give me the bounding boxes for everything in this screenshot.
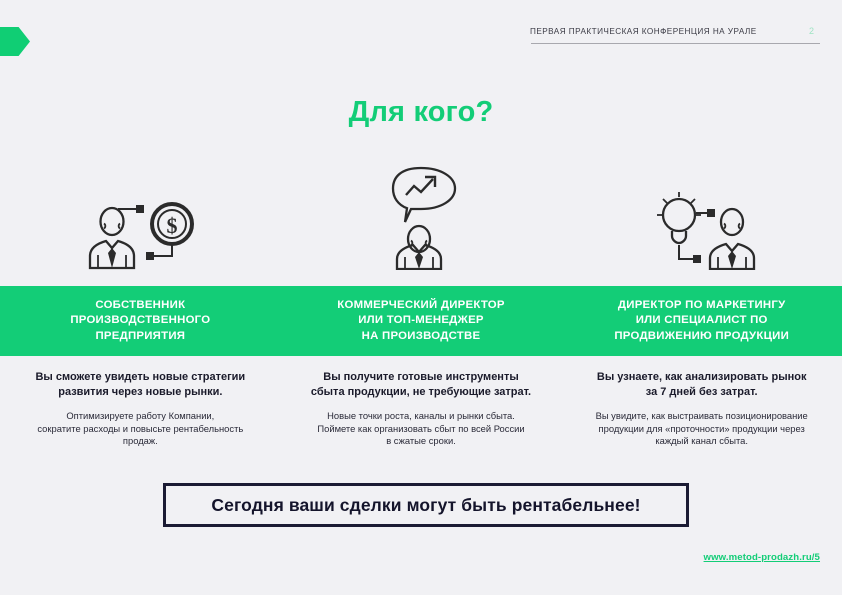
persona-banner-1-line-2: ПРОИЗВОДСТВЕННОГО [70, 313, 210, 329]
persona-text-3-subtext-line-2: продукции для «проточности» продукции че… [571, 423, 832, 436]
persona-text-1-subtext-line-1: Оптимизируете работу Компании, [10, 410, 271, 423]
persona-banner-3-line-2: ИЛИ СПЕЦИАЛИСТ ПО [614, 313, 789, 329]
persona-banner-3: ДИРЕКТОР ПО МАРКЕТИНГУ ИЛИ СПЕЦИАЛИСТ ПО… [561, 286, 842, 356]
page-title: Для кого? [0, 96, 842, 129]
cta-box: Сегодня ваши сделки могут быть рентабель… [163, 483, 689, 527]
persona-text-1-headline-line-2: развития через новые рынки. [10, 385, 271, 400]
persona-text-2-subtext: Новые точки роста, каналы и рынки сбыта.… [291, 410, 552, 448]
persona-icon-row: $ [0, 155, 842, 270]
lightbulb-with-businessman-icon [646, 188, 758, 270]
persona-banner-3-line-1: ДИРЕКТОР ПО МАРКЕТИНГУ [614, 298, 789, 314]
persona-banner-1-line-3: ПРЕДПРИЯТИЯ [70, 329, 210, 345]
persona-banner-2-line-2: ИЛИ ТОП-МЕНЕДЖЕР [337, 313, 504, 329]
header-right-group: ПЕРВАЯ ПРАКТИЧЕСКАЯ КОНФЕРЕНЦИЯ НА УРАЛЕ… [530, 26, 820, 37]
persona-text-2-headline: Вы получите готовые инструменты сбыта пр… [291, 370, 552, 399]
green-arrow-tab-icon [0, 27, 30, 56]
conference-title: ПЕРВАЯ ПРАКТИЧЕСКАЯ КОНФЕРЕНЦИЯ НА УРАЛЕ [530, 26, 757, 37]
persona-text-3-headline-line-2: за 7 дней без затрат. [571, 385, 832, 400]
persona-text-2-subtext-line-3: в сжатые сроки. [291, 435, 552, 448]
svg-text:$: $ [167, 213, 178, 238]
persona-text-1-subtext-line-3: продаж. [10, 435, 271, 448]
persona-text-1-subtext: Оптимизируете работу Компании, сократите… [10, 410, 271, 448]
page-number: 2 [809, 26, 820, 37]
persona-text-3-subtext-line-3: каждый канал сбыта. [571, 435, 832, 448]
businessman-with-dollar-coin-icon: $ [86, 192, 194, 270]
persona-text-2-headline-line-1: Вы получите готовые инструменты [291, 370, 552, 385]
slide: ПЕРВАЯ ПРАКТИЧЕСКАЯ КОНФЕРЕНЦИЯ НА УРАЛЕ… [0, 0, 842, 595]
footer-website-link[interactable]: www.metod-prodazh.ru/5 [704, 552, 820, 563]
persona-text-row: Вы сможете увидеть новые стратегии разви… [0, 370, 842, 470]
persona-text-3-subtext: Вы увидите, как выстраивать позициониров… [571, 410, 832, 448]
persona-icon-cell-3 [561, 155, 842, 270]
persona-banner-row: СОБСТВЕННИК ПРОИЗВОДСТВЕННОГО ПРЕДПРИЯТИ… [0, 286, 842, 356]
persona-text-2-subtext-line-2: Поймете как организовать сбыт по всей Ро… [291, 423, 552, 436]
persona-icon-cell-1: $ [0, 155, 281, 270]
persona-text-3-headline: Вы узнаете, как анализировать рынок за 7… [571, 370, 832, 399]
persona-text-1-headline: Вы сможете увидеть новые стратегии разви… [10, 370, 271, 399]
cta-text: Сегодня ваши сделки могут быть рентабель… [211, 495, 640, 516]
persona-text-1-headline-line-1: Вы сможете увидеть новые стратегии [10, 370, 271, 385]
persona-banner-2-line-3: НА ПРОИЗВОДСТВЕ [337, 329, 504, 345]
persona-banner-3-line-3: ПРОДВИЖЕНИЮ ПРОДУКЦИИ [614, 329, 789, 345]
persona-text-2: Вы получите готовые инструменты сбыта пр… [281, 370, 562, 470]
persona-text-3-subtext-line-1: Вы увидите, как выстраивать позициониров… [571, 410, 832, 423]
persona-text-3: Вы узнаете, как анализировать рынок за 7… [561, 370, 842, 470]
businessman-with-growth-chart-speech-bubble-icon [375, 162, 467, 270]
persona-banner-2: КОММЕРЧЕСКИЙ ДИРЕКТОР ИЛИ ТОП-МЕНЕДЖЕР Н… [281, 286, 562, 356]
persona-banner-2-line-1: КОММЕРЧЕСКИЙ ДИРЕКТОР [337, 298, 504, 314]
header-divider [531, 43, 820, 44]
persona-icon-cell-2 [281, 155, 562, 270]
slide-header: ПЕРВАЯ ПРАКТИЧЕСКАЯ КОНФЕРЕНЦИЯ НА УРАЛЕ… [0, 0, 842, 62]
persona-text-3-headline-line-1: Вы узнаете, как анализировать рынок [571, 370, 832, 385]
persona-text-2-subtext-line-1: Новые точки роста, каналы и рынки сбыта. [291, 410, 552, 423]
persona-text-1-subtext-line-2: сократите расходы и повысьте рентабельно… [10, 423, 271, 436]
persona-banner-1: СОБСТВЕННИК ПРОИЗВОДСТВЕННОГО ПРЕДПРИЯТИ… [0, 286, 281, 356]
persona-banner-1-line-1: СОБСТВЕННИК [70, 298, 210, 314]
persona-text-1: Вы сможете увидеть новые стратегии разви… [0, 370, 281, 470]
persona-text-2-headline-line-2: сбыта продукции, не требующие затрат. [291, 385, 552, 400]
